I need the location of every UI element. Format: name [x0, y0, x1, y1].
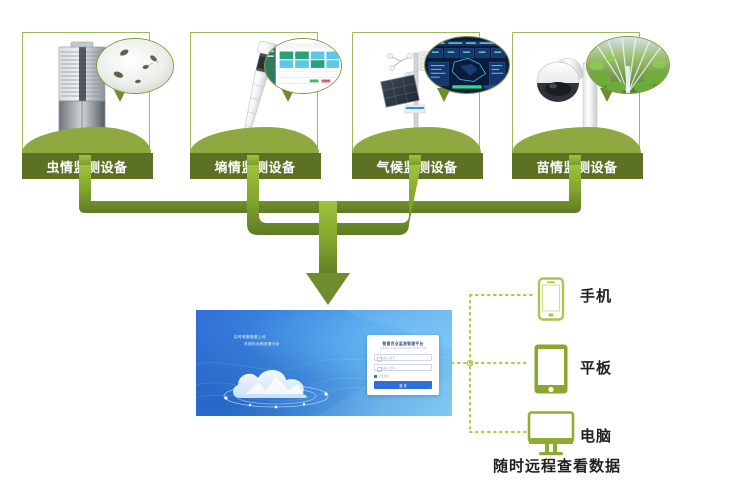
user-icon	[377, 357, 382, 363]
insect-closeup-photo	[96, 38, 174, 94]
aggregation-connector-tree	[0, 155, 750, 315]
climate-dashboard-photo	[424, 36, 510, 94]
tablet-icon[interactable]	[533, 343, 569, 395]
screen-headline-1: 实时采集数据上传	[234, 334, 266, 341]
soil-data-table-photo	[264, 38, 342, 94]
diagram-canvas: 虫情监测设备	[0, 0, 750, 500]
checkbox-icon	[374, 375, 377, 378]
password-placeholder: 请输入密码	[381, 366, 395, 370]
terminal-label-pc: 电脑	[580, 425, 612, 446]
terminal-label-tablet: 平板	[580, 357, 612, 378]
cloud-data-icon	[218, 358, 334, 410]
login-subtitle: SMART AGRICULTURE MONITOR	[367, 347, 439, 350]
login-submit-button[interactable]: 登 录	[374, 381, 432, 389]
login-card[interactable]: 智慧农业监测管理平台 SMART AGRICULTURE MONITOR 请输入…	[367, 335, 439, 395]
terminal-label-phone: 手机	[580, 285, 612, 306]
screen-headline-2: 可视化远程查看分析	[244, 341, 280, 348]
password-input[interactable]: 请输入密码	[374, 364, 432, 371]
mobile-phone-icon[interactable]	[536, 277, 566, 321]
username-placeholder: 请输入账号	[381, 356, 395, 360]
greenhouse-crops-photo	[586, 36, 670, 94]
lock-icon	[377, 367, 382, 373]
remember-label: 记住密码	[379, 374, 389, 378]
desktop-monitor-icon[interactable]	[527, 411, 575, 457]
remember-password-checkbox[interactable]: 记住密码	[374, 374, 389, 378]
username-input[interactable]: 请输入账号	[374, 354, 432, 361]
cloud-platform-login-screen[interactable]: 实时采集数据上传 可视化远程查看分析 智慧农业监测管理平台 SMART AGRI…	[196, 310, 452, 416]
footer-note: 随时远程查看数据	[493, 455, 621, 476]
